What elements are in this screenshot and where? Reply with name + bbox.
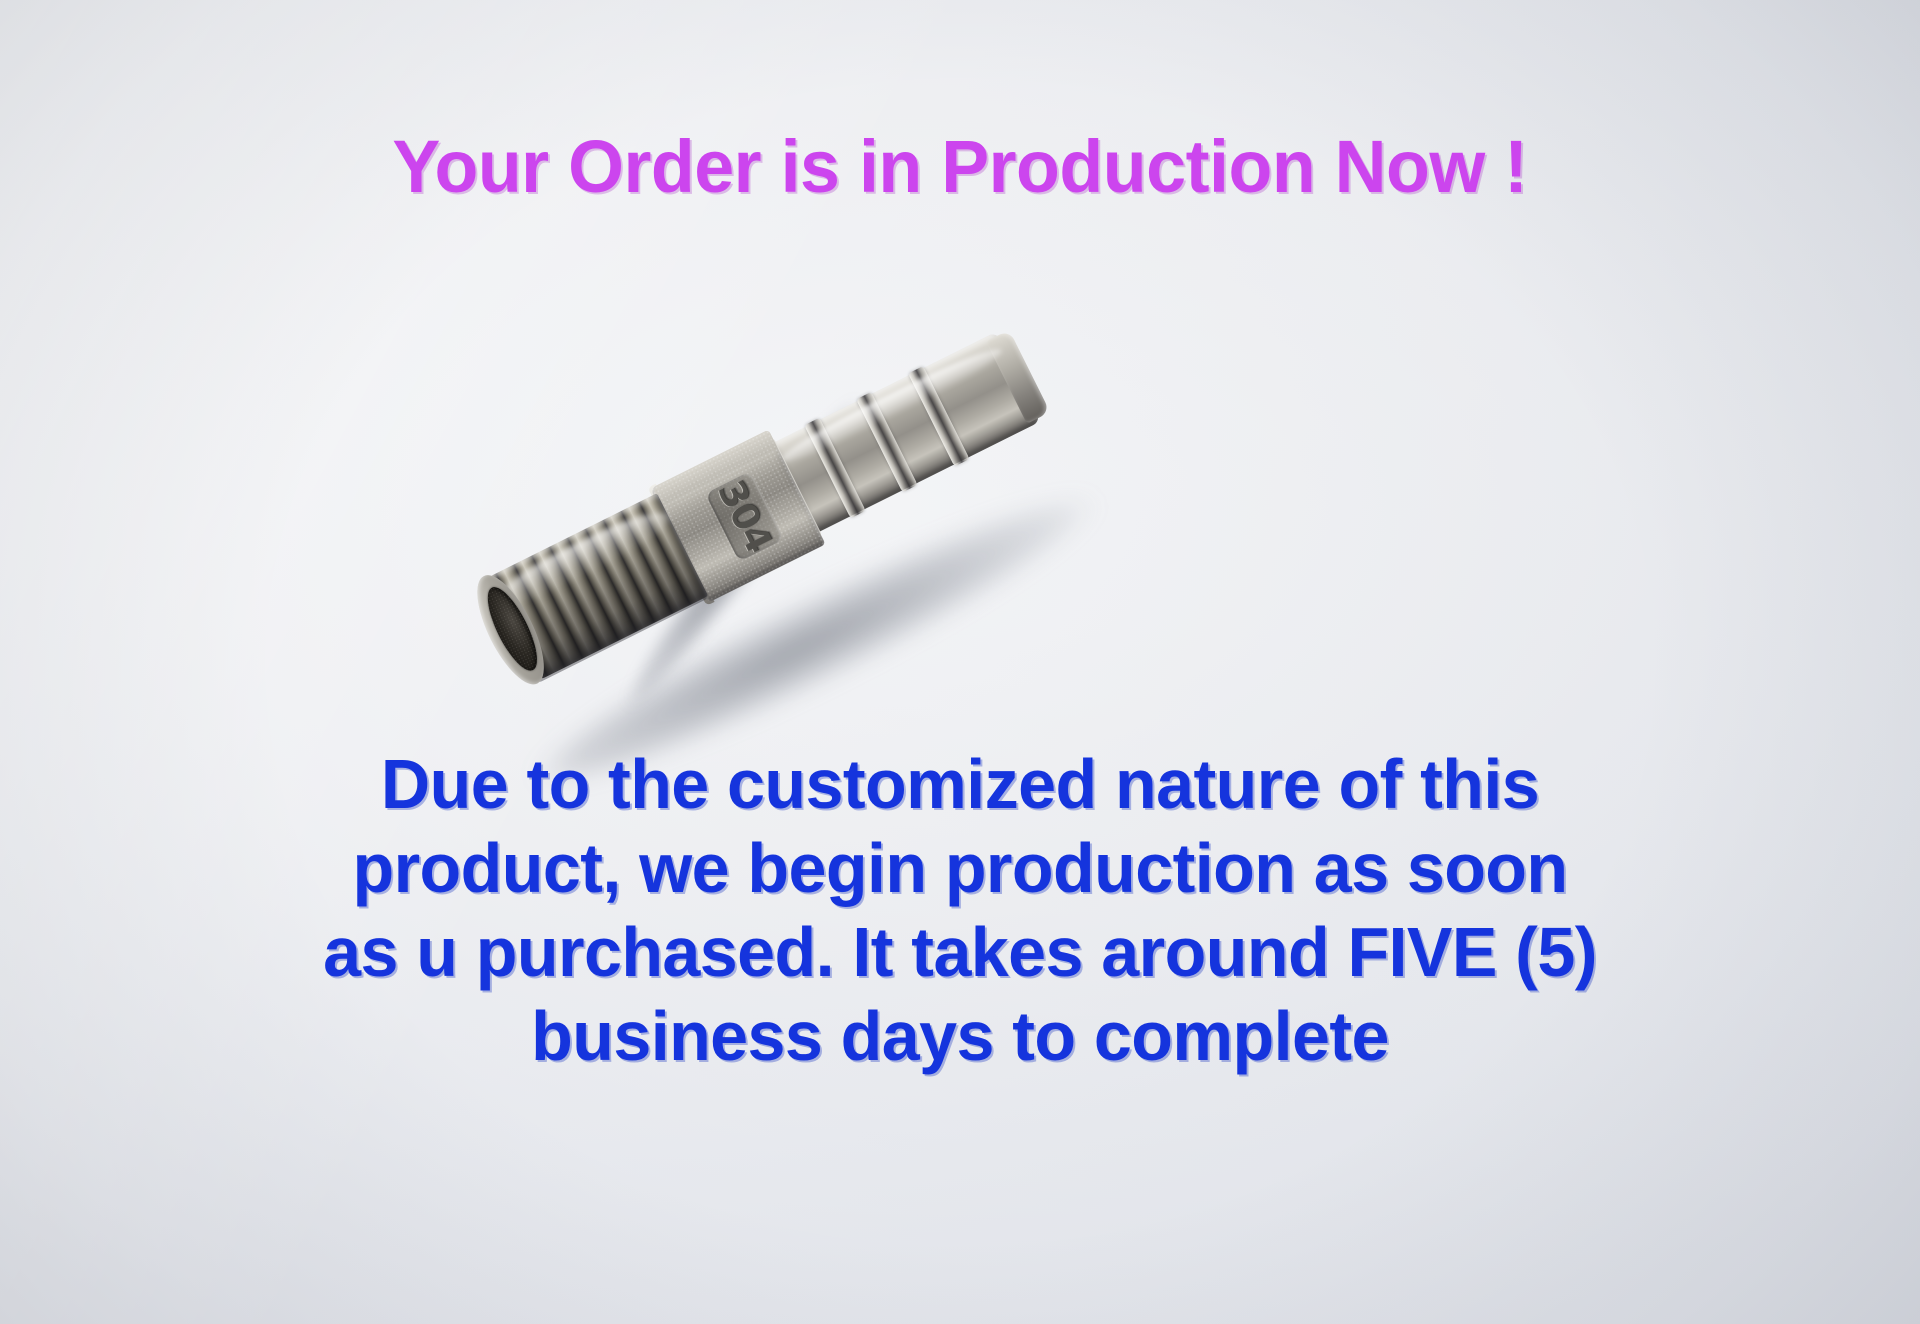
body-line-3: as u purchased. It takes around FIVE (5)	[24, 910, 1896, 994]
body-line-2: product, we begin production as soon	[24, 826, 1896, 910]
product-photo-hose-barb-fitting: 304	[455, 300, 1135, 730]
body-line-4: business days to complete	[24, 994, 1896, 1078]
body-line-1: Due to the customized nature of this	[24, 742, 1896, 826]
production-lead-time-message: Due to the customized nature of this pro…	[24, 742, 1896, 1078]
notice-banner: Your Order is in Production Now ! 304 Du…	[0, 0, 1920, 1324]
